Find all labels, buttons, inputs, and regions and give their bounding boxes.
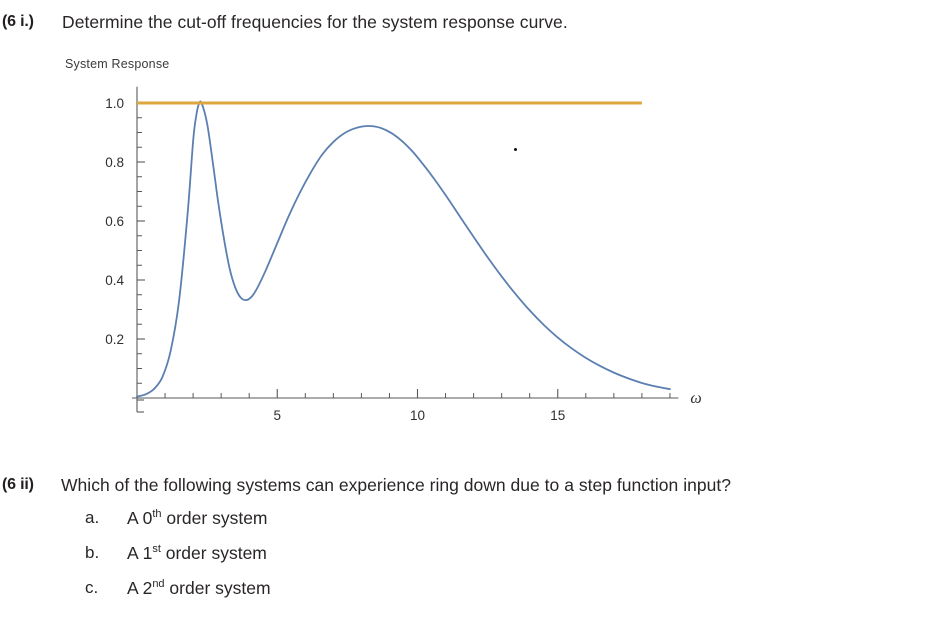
answer-option-prefix: A 1 [127,543,152,563]
system-response-chart: System Response 0.20.40.60.81.051015ω [55,55,705,425]
chart-plot-area: 0.20.40.60.81.051015ω [55,55,705,425]
response-curve [137,101,670,396]
answer-option-a[interactable]: a.A 0th order system [0,508,600,543]
question-6i-block: (6 i.) Determine the cut-off frequencies… [0,8,942,48]
x-axis-label-omega: ω [690,390,701,407]
answer-option-text: A 2nd order system [127,578,271,599]
y-axis-tick-label: 0.2 [105,332,124,347]
answer-option-marker: c. [85,578,98,598]
answer-option-tail: order system [162,508,268,528]
x-axis-tick-label: 10 [410,408,425,423]
answer-option-ordinal-suffix: th [152,508,161,520]
x-axis-tick-label: 5 [273,408,281,423]
answer-option-prefix: A 2 [127,578,152,598]
answer-option-ordinal-suffix: st [152,543,161,555]
answer-option-ordinal-suffix: nd [152,578,164,590]
y-axis-tick-label: 0.8 [105,155,124,170]
answer-option-tail: order system [161,543,267,563]
question-6i-number: (6 i.) [2,13,34,31]
question-6ii-number: (6 ii) [2,476,34,494]
answer-option-prefix: A 0 [127,508,152,528]
question-6i-text: Determine the cut-off frequencies for th… [62,12,568,33]
y-axis-tick-label: 0.4 [105,273,124,288]
y-axis-tick-label: 0.6 [105,214,124,229]
chart-svg: 0.20.40.60.81.051015ω [55,55,705,425]
answer-option-marker: a. [85,508,99,528]
question-6ii-text: Which of the following systems can exper… [61,475,731,496]
answer-option-text: A 0th order system [127,508,268,529]
x-axis-tick-label: 15 [550,408,565,423]
answer-option-tail: order system [165,578,271,598]
answer-option-c[interactable]: c.A 2nd order system [0,578,600,613]
answer-option-marker: b. [85,543,99,563]
answer-options-list: a.A 0th order systemb.A 1st order system… [0,508,600,613]
stray-dot-artifact [514,148,517,151]
answer-option-text: A 1st order system [127,543,267,564]
y-axis-tick-label: 1.0 [105,96,124,111]
answer-option-b[interactable]: b.A 1st order system [0,543,600,578]
